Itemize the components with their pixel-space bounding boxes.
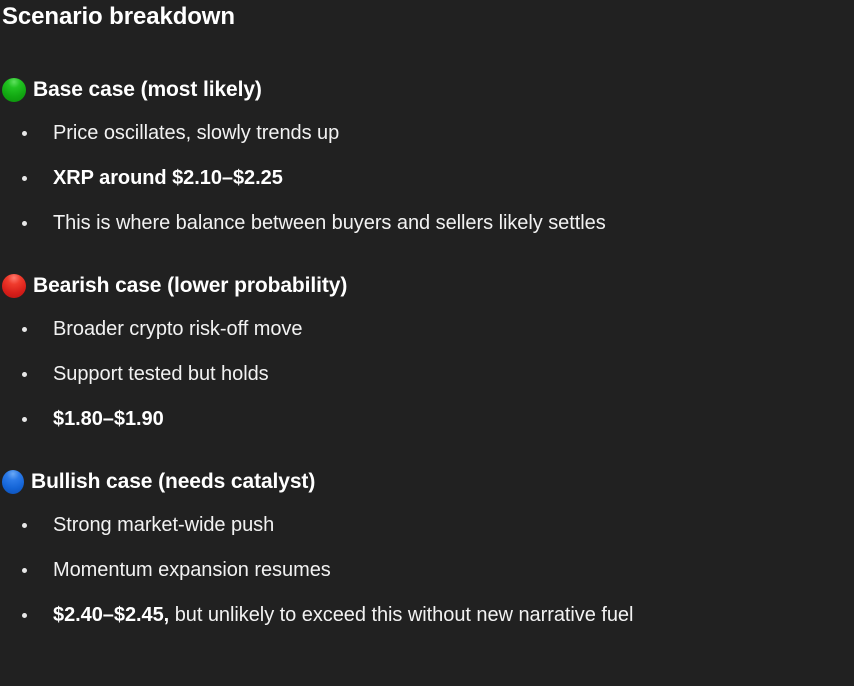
section-title: Bearish case (lower probability) xyxy=(33,272,347,300)
bullet-point-icon xyxy=(22,372,27,377)
bullet-point-icon xyxy=(22,568,27,573)
list-item: This is where balance between buyers and… xyxy=(0,200,854,245)
bullet-list: Price oscillates, slowly trends upXRP ar… xyxy=(0,110,854,245)
scenario-section: Base case (most likely)Price oscillates,… xyxy=(0,70,854,245)
bullet-text: $2.40–$2.45, but unlikely to exceed this… xyxy=(53,601,633,629)
bullet-text: Support tested but holds xyxy=(53,360,269,388)
section-divider-space xyxy=(0,245,854,266)
list-item: $2.40–$2.45, but unlikely to exceed this… xyxy=(0,592,854,637)
blue-circle-icon xyxy=(2,470,24,494)
list-item: $1.80–$1.90 xyxy=(0,396,854,441)
bullet-list: Strong market-wide pushMomentum expansio… xyxy=(0,502,854,637)
sections-list: Base case (most likely)Price oscillates,… xyxy=(0,70,854,637)
bullet-point-icon xyxy=(22,417,27,422)
bullet-text: Momentum expansion resumes xyxy=(53,556,331,584)
section-heading: Base case (most likely) xyxy=(0,70,854,110)
bullet-point-icon xyxy=(22,523,27,528)
scenario-section: Bullish case (needs catalyst)Strong mark… xyxy=(0,462,854,637)
bullet-text: XRP around $2.10–$2.25 xyxy=(53,164,283,192)
bullet-list: Broader crypto risk-off moveSupport test… xyxy=(0,306,854,441)
bullet-text: Price oscillates, slowly trends up xyxy=(53,119,339,147)
bullet-text-emphasis: $2.40–$2.45, xyxy=(53,604,169,626)
scenario-breakdown-page: Scenario breakdown Base case (most likel… xyxy=(0,0,854,686)
bullet-point-icon xyxy=(22,221,27,226)
section-heading: Bullish case (needs catalyst) xyxy=(0,462,854,502)
list-item: Support tested but holds xyxy=(0,351,854,396)
bullet-point-icon xyxy=(22,176,27,181)
bullet-text: Broader crypto risk-off move xyxy=(53,315,302,343)
page-title: Scenario breakdown xyxy=(2,1,235,33)
bullet-text: This is where balance between buyers and… xyxy=(53,209,606,237)
bullet-text-remainder: but unlikely to exceed this without new … xyxy=(169,604,633,626)
red-circle-icon xyxy=(2,274,26,298)
list-item: Broader crypto risk-off move xyxy=(0,306,854,351)
list-item: XRP around $2.10–$2.25 xyxy=(0,155,854,200)
green-circle-icon xyxy=(2,78,26,102)
section-title: Bullish case (needs catalyst) xyxy=(31,468,315,496)
list-item: Momentum expansion resumes xyxy=(0,547,854,592)
bullet-point-icon xyxy=(22,327,27,332)
bullet-text: Strong market-wide push xyxy=(53,511,274,539)
scenario-section: Bearish case (lower probability)Broader … xyxy=(0,266,854,441)
section-divider-space xyxy=(0,441,854,462)
bullet-text: $1.80–$1.90 xyxy=(53,405,164,433)
bullet-point-icon xyxy=(22,131,27,136)
section-title: Base case (most likely) xyxy=(33,76,262,104)
bullet-point-icon xyxy=(22,613,27,618)
list-item: Price oscillates, slowly trends up xyxy=(0,110,854,155)
list-item: Strong market-wide push xyxy=(0,502,854,547)
section-heading: Bearish case (lower probability) xyxy=(0,266,854,306)
